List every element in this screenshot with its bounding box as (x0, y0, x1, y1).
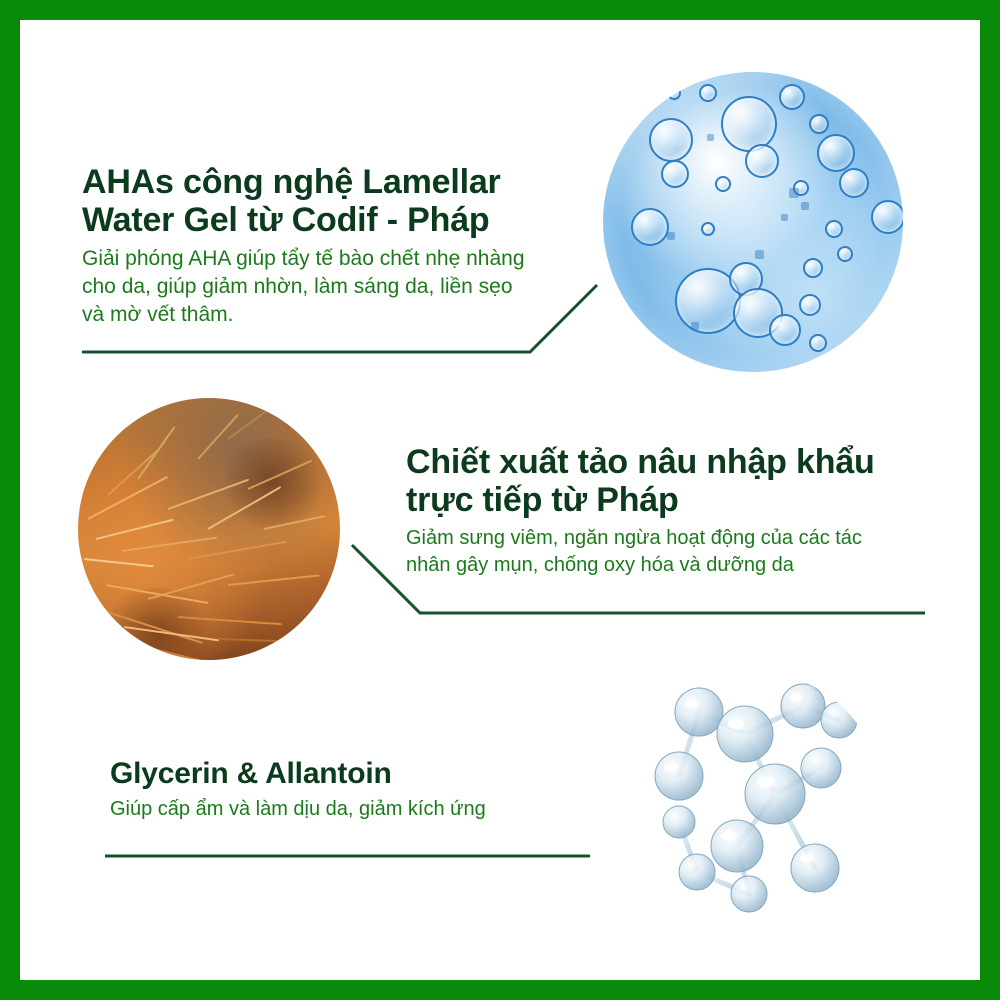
heading-aha: AHAs công nghệ Lamellar Water Gel từ Cod… (82, 163, 602, 239)
text-block-aha: AHAs công nghệ Lamellar Water Gel từ Cod… (82, 163, 602, 328)
body-aha-line1: Giải phóng AHA giúp tẩy tế bào chết nhẹ … (82, 247, 525, 270)
brown-seaweed-image (78, 398, 340, 660)
text-block-seaweed: Chiết xuất tảo nâu nhập khẩu trực tiếp t… (406, 443, 946, 578)
body-seaweed: Giảm sưng viêm, ngăn ngừa hoạt động của … (406, 525, 946, 578)
body-aha-line2: cho da, giúp giảm nhờn, làm sáng da, liề… (82, 275, 513, 298)
body-seaweed-line2: nhân gây mụn, chống oxy hóa và dưỡng da (406, 554, 794, 576)
heading-aha-line1: AHAs công nghệ Lamellar (82, 163, 501, 201)
blue-gel-bubbles-image (603, 72, 903, 372)
body-seaweed-line1: Giảm sưng viêm, ngăn ngừa hoạt động của … (406, 527, 862, 549)
infographic-canvas: AHAs công nghệ Lamellar Water Gel từ Cod… (20, 20, 980, 980)
body-aha: Giải phóng AHA giúp tẩy tế bào chết nhẹ … (82, 245, 602, 328)
molecule-structure-image (625, 672, 883, 930)
heading-glycerin: Glycerin & Allantoin (110, 757, 610, 791)
heading-seaweed-line1: Chiết xuất tảo nâu nhập khẩu (406, 443, 875, 481)
text-block-glycerin: Glycerin & Allantoin Giúp cấp ẩm và làm … (110, 757, 610, 822)
body-aha-line3: và mờ vết thâm. (82, 303, 233, 326)
heading-seaweed-line2: trực tiếp từ Pháp (406, 481, 679, 519)
heading-aha-line2: Water Gel từ Codif - Pháp (82, 201, 489, 239)
heading-seaweed: Chiết xuất tảo nâu nhập khẩu trực tiếp t… (406, 443, 946, 519)
ingredient-infographic: AHAs công nghệ Lamellar Water Gel từ Cod… (0, 0, 1000, 1000)
body-glycerin: Giúp cấp ẩm và làm dịu da, giảm kích ứng (110, 796, 610, 822)
